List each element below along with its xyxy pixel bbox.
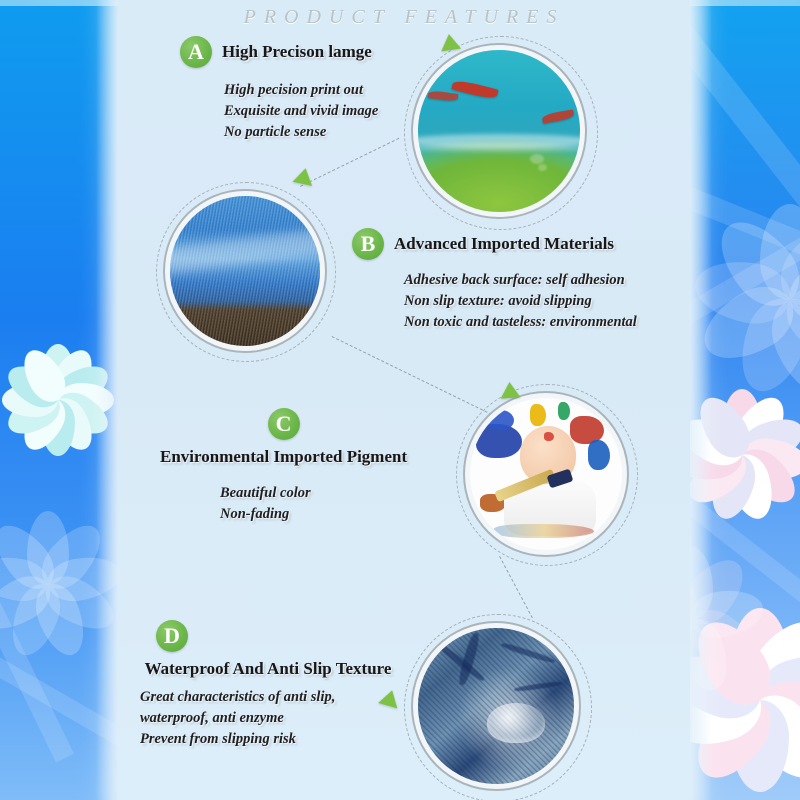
infographic-canvas: PRODUCT FEATURES	[0, 0, 800, 800]
feature-title-c: Environmental Imported Pigment	[160, 447, 407, 467]
photo-aquatic-scene	[418, 50, 580, 212]
photo-water-droplet-texture	[418, 628, 574, 784]
green-triangle-marker	[499, 381, 520, 398]
feature-lines-c: Beautiful color Non-fading	[220, 483, 407, 525]
feature-line: Exquisite and vivid image	[224, 101, 378, 122]
feature-block-a: A High Precison lamge High pecision prin…	[180, 36, 378, 143]
feature-badge-d: D	[156, 620, 188, 652]
feature-badge-b: B	[352, 228, 384, 260]
feature-lines-a: High pecision print out Exquisite and vi…	[224, 80, 378, 143]
feature-line: Great characteristics of anti slip,	[140, 687, 418, 708]
feature-badge-c: C	[268, 408, 300, 440]
feature-block-d: D Waterproof And Anti Slip Texture Great…	[118, 620, 418, 750]
feature-line: High pecision print out	[224, 80, 378, 101]
feature-title-b: Advanced Imported Materials	[394, 234, 614, 254]
feature-title-a: High Precison lamge	[222, 42, 372, 62]
photo-blue-material	[170, 196, 320, 346]
feature-block-c: C Environmental Imported Pigment Beautif…	[160, 408, 407, 525]
feature-badge-a: A	[180, 36, 212, 68]
feature-line: Beautiful color	[220, 483, 407, 504]
feature-line: Non slip texture: avoid slipping	[404, 291, 637, 312]
green-triangle-marker	[439, 33, 461, 52]
feature-line: Non toxic and tasteless: environmental	[404, 312, 637, 333]
feature-line: Adhesive back surface: self adhesion	[404, 270, 637, 291]
feature-line: Non-fading	[220, 504, 407, 525]
feature-line: Prevent from slipping risk	[140, 729, 418, 750]
photo-baby-painting	[470, 398, 622, 550]
feature-title-d: Waterproof And Anti Slip Texture	[118, 659, 418, 679]
feature-lines-b: Adhesive back surface: self adhesion Non…	[404, 270, 637, 333]
page-title: PRODUCT FEATURES	[118, 6, 690, 29]
feature-block-b: B Advanced Imported Materials Adhesive b…	[352, 228, 637, 333]
feature-line: waterproof, anti enzyme	[140, 708, 418, 729]
feature-lines-d: Great characteristics of anti slip, wate…	[140, 687, 418, 750]
feature-line: No particle sense	[224, 122, 378, 143]
